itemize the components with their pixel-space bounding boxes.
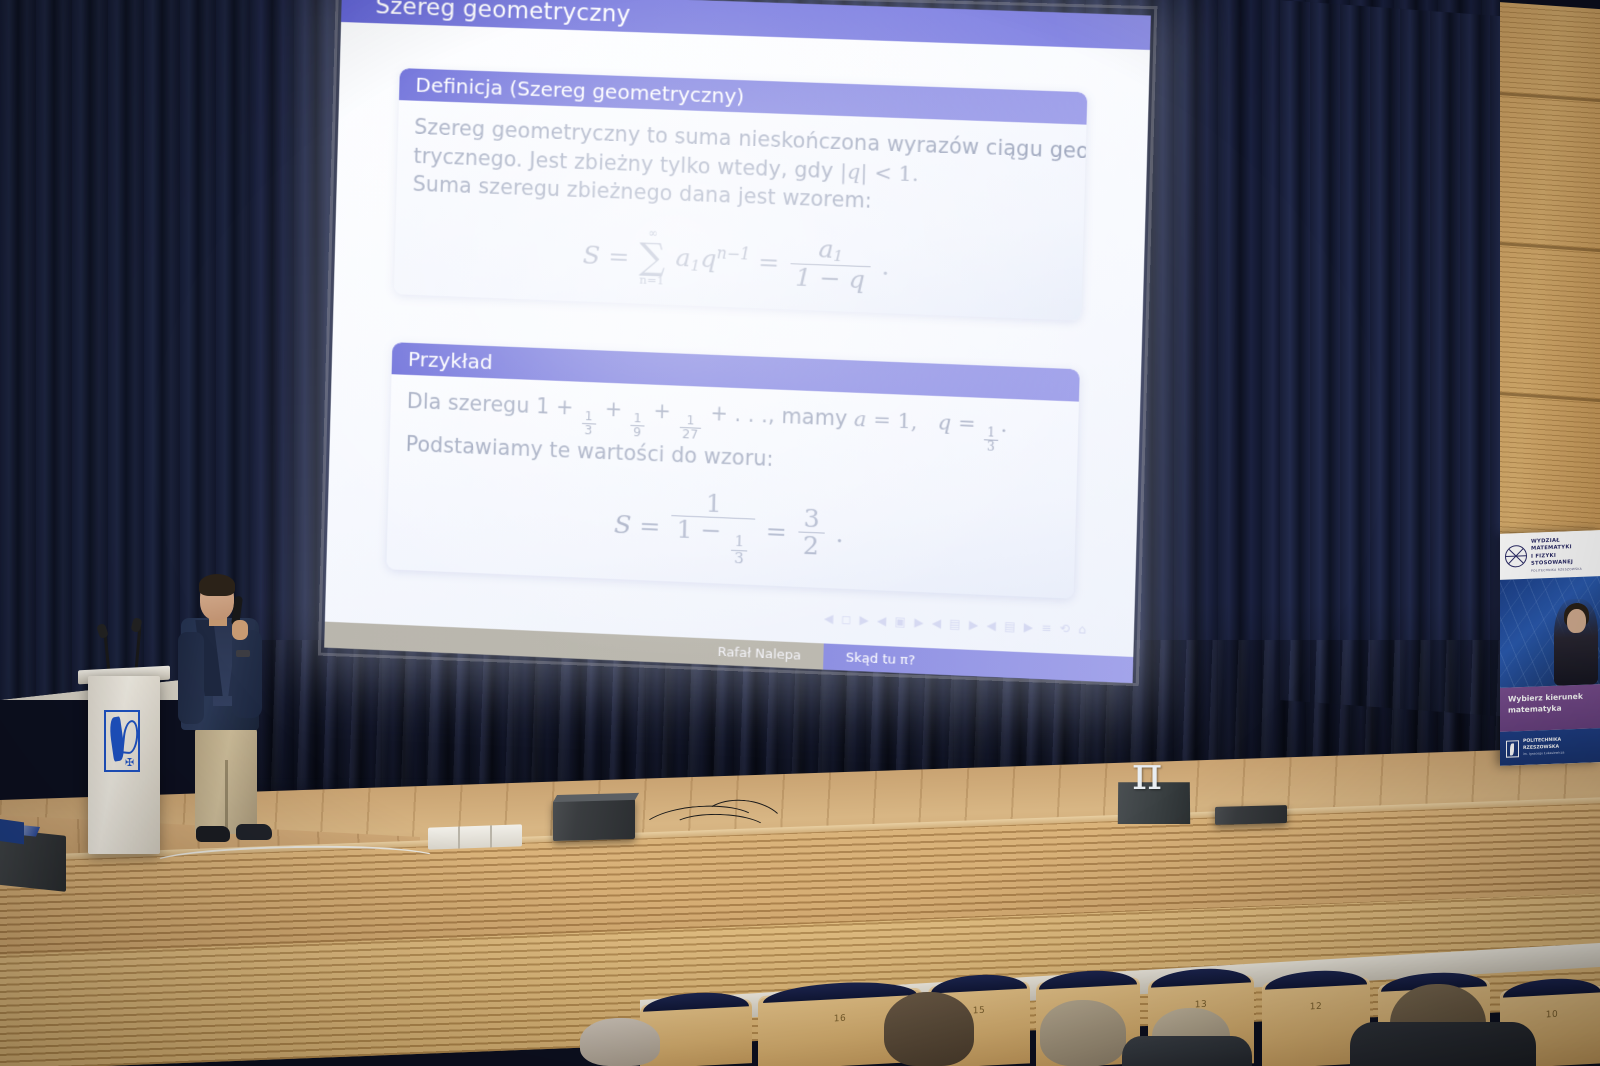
series-frac-1-9: 19 — [630, 412, 645, 439]
example-block: Przykład Dla szeregu 1 + 13 + 19 + 127 +… — [386, 342, 1080, 599]
example-fraction-2: 3 2 — [797, 506, 825, 559]
projection-screen: Szereg geometryczny Definicja (Szereg ge… — [324, 0, 1151, 683]
summation-operator: ∞ ∑ n=1 — [639, 227, 667, 286]
example-a-value: a = 1, — [854, 407, 918, 434]
nav-symbol-slide[interactable]: ◻ — [841, 612, 850, 626]
nav-symbol-back-icon[interactable]: ⟲ — [1060, 621, 1070, 636]
prz-logo-icon — [1506, 740, 1519, 757]
example-header-text: Przykład — [392, 346, 493, 374]
frac-num-a: a — [818, 234, 834, 264]
nav-symbol-prev-frame[interactable]: ◀ — [877, 613, 886, 627]
term-q: q — [700, 244, 717, 274]
stage-monitor-center — [553, 799, 635, 841]
presenter-hand — [232, 620, 248, 640]
podium: ✠ — [88, 676, 160, 854]
term-a: a — [675, 243, 691, 273]
nested-frac-1-3: 13 — [731, 534, 748, 567]
example-formula-period: . — [835, 519, 844, 549]
example-frac1-denominator: 1 − 13 — [671, 515, 755, 567]
footer-title-text: Skąd tu π? — [846, 650, 916, 668]
example-line-1-lead: Dla szeregu — [407, 389, 537, 418]
seat-number-label: 12 — [1310, 1002, 1322, 1013]
pi-sculpture-glyph: π — [1132, 752, 1162, 794]
example-formula-equals-2: = — [765, 516, 787, 546]
audience-shoulders-4 — [1122, 1036, 1252, 1066]
formula-period: . — [881, 251, 890, 281]
left-side-panel — [0, 818, 24, 845]
fraction-denominator: 1 − q — [790, 263, 871, 293]
nav-symbol-prev-subsection[interactable]: ◀ — [931, 616, 940, 630]
example-frac2-numerator: 3 — [798, 506, 825, 533]
formula-lhs-S: S — [582, 240, 600, 270]
example-frac2-denominator: 2 — [797, 531, 824, 559]
example-series: 1 + 13 + 19 + 127 + . . ., — [536, 394, 775, 428]
presenter-hair — [199, 574, 235, 596]
nested-frac-den: 3 — [731, 550, 747, 567]
term-a-subscript: 1 — [690, 256, 700, 274]
slide-title: Szereg geometryczny — [341, 0, 631, 28]
banner-cta: Wybierz kierunek matematyka — [1500, 684, 1600, 732]
definition-block-body: Szereg geometryczny to suma nieskończona… — [394, 100, 1087, 321]
presenter-shoe-right — [236, 824, 272, 840]
banner-person-head — [1567, 609, 1586, 634]
faculty-logo-icon — [1505, 545, 1527, 568]
definition-line-2-math: |q| < 1. — [840, 159, 919, 186]
nested-frac-num: 1 — [731, 534, 747, 550]
nav-symbol-prev-slide[interactable]: ◀ — [824, 611, 833, 625]
audience-head-2 — [884, 992, 974, 1066]
banner-university: POLITECHNIKA RZESZOWSKA im. Ignacego Łuk… — [1500, 728, 1600, 766]
term-q-exponent: n−1 — [716, 244, 750, 264]
footer-author-text: Rafał Nalepa — [717, 644, 801, 663]
audience-shoulders-5 — [1350, 1022, 1536, 1066]
formula-equals-1: = — [608, 241, 630, 271]
lecture-hall-scene: Szereg geometryczny Definicja (Szereg ge… — [0, 0, 1600, 1066]
nav-symbol-toc[interactable]: ≡ — [1041, 621, 1051, 636]
university-logo-icon: ✠ — [104, 710, 140, 772]
series-frac-1-27: 127 — [679, 414, 702, 442]
nav-symbol-home-icon[interactable]: ⌂ — [1078, 622, 1085, 636]
example-formula-equals-1: = — [639, 511, 661, 541]
nav-symbol-next-frame[interactable]: ▶ — [914, 615, 923, 629]
frac-num-subscript: 1 — [833, 247, 843, 265]
example-fraction-1: 1 1 − 13 — [671, 489, 756, 567]
example-frac1-numerator: 1 — [700, 491, 727, 518]
presenter-arm-left — [178, 632, 204, 724]
nav-symbol-prev-section[interactable]: ◀ — [986, 618, 995, 632]
presenter-arm-right — [232, 630, 262, 718]
fraction-numerator: a1 — [813, 236, 849, 265]
banner-photo — [1500, 576, 1600, 688]
nav-symbol-section[interactable]: ▤ — [1004, 619, 1015, 634]
banner-university-text: POLITECHNIKA RZESZOWSKA im. Ignacego Łuk… — [1523, 738, 1564, 757]
seat-number-label: 10 — [1546, 1010, 1558, 1021]
banner-faculty-text: WYDZIAŁ MATEMATYKI I FIZYKI STOSOWANEJ P… — [1531, 536, 1595, 573]
audience-head-3 — [1040, 1000, 1126, 1066]
example-block-body: Dla szeregu 1 + 13 + 19 + 127 + . . ., m… — [386, 374, 1079, 599]
stage-riser-block — [1215, 805, 1287, 825]
university-sub: im. Ignacego Łukasiewicza — [1523, 751, 1564, 757]
definition-block: Definicja (Szereg geometryczny) Szereg g… — [394, 68, 1088, 321]
banner-header: WYDZIAŁ MATEMATYKI I FIZYKI STOSOWANEJ P… — [1500, 530, 1600, 580]
nav-symbol-next-section[interactable]: ▶ — [1024, 620, 1033, 635]
example-q-value: q = 13. — [938, 410, 1008, 437]
nav-symbol-subsection[interactable]: ▤ — [949, 617, 960, 632]
example-line-1-mid: mamy — [774, 404, 854, 431]
sum-sigma-glyph: ∑ — [639, 239, 666, 276]
example-formula: S = 1 1 − 13 = 3 2 . — [403, 478, 1058, 580]
beamer-navigation-bar[interactable]: ◀ ◻ ▶ ◀ ▣ ▶ ◀ ▤ ▶ ◀ ▤ ▶ ≡ ⟲ ⌂ — [824, 611, 1086, 636]
sum-lower-limit: n=1 — [639, 274, 664, 286]
formula-fraction: a1 1 − q — [790, 235, 871, 293]
logo-cross-icon: ✠ — [125, 758, 134, 767]
formula-term: a1qn−1 — [675, 242, 750, 277]
presentation-slide: Szereg geometryczny Definicja (Szereg ge… — [324, 0, 1151, 683]
formula-equals-2: = — [758, 246, 780, 276]
presenter-wristwatch — [236, 650, 250, 657]
rollup-banner: WYDZIAŁ MATEMATYKI I FIZYKI STOSOWANEJ P… — [1500, 530, 1600, 766]
seat-number-label: 15 — [973, 1006, 985, 1017]
definition-formula: S = ∞ ∑ n=1 a1qn−1 = a1 1 − q — [410, 219, 1065, 302]
example-formula-lhs-S: S — [614, 510, 632, 540]
banner-cta-line-2: matematyka — [1508, 702, 1594, 717]
nav-symbol-next-slide[interactable]: ▶ — [859, 613, 868, 627]
frac1-den-lead: 1 − — [676, 514, 722, 545]
power-strip — [428, 824, 522, 849]
series-frac-1-3: 13 — [581, 410, 596, 437]
seat-number-label: 16 — [834, 1014, 846, 1025]
presenter-shoe-left — [196, 826, 230, 842]
audience-head-1 — [580, 1018, 660, 1066]
presenter-leg-split — [225, 760, 228, 834]
nav-symbol-next-subsection[interactable]: ▶ — [969, 617, 978, 631]
nav-symbol-frame[interactable]: ▣ — [894, 614, 905, 629]
q-frac-1-3: 13 — [984, 426, 999, 453]
